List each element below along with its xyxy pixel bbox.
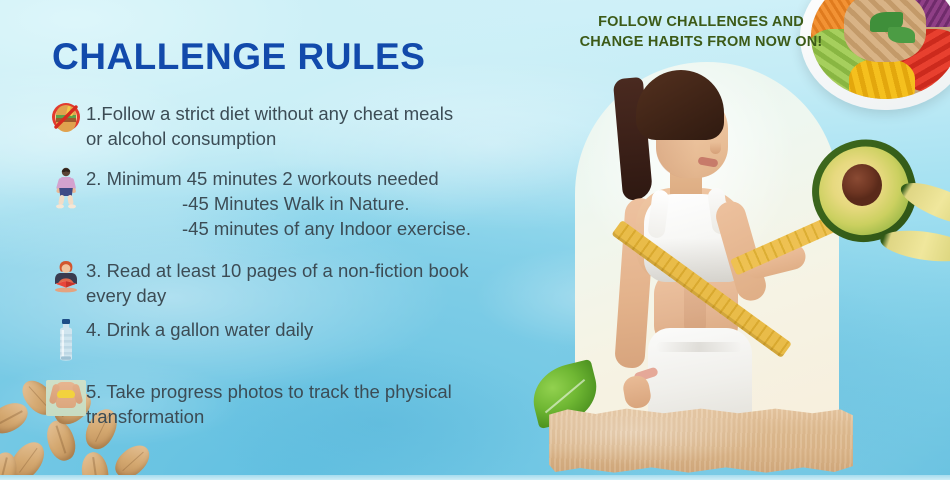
- rule-item-5: 5. Take progress photos to track the phy…: [46, 378, 546, 429]
- call-to-action-banner: [546, 408, 856, 474]
- avocado-pit: [842, 164, 882, 206]
- rule-2-subitem-2: -45 minutes of any Indoor exercise.: [86, 216, 471, 241]
- avocado-slice-2: [878, 226, 950, 267]
- rule-item-1: 1.Follow a strict diet without any cheat…: [46, 100, 546, 151]
- rule-1-line-1: 1.Follow a strict diet without any cheat…: [86, 103, 453, 124]
- banner-line-1: FOLLOW CHALLENGES AND: [546, 12, 856, 32]
- woman-measuring-waist-image: [598, 70, 828, 420]
- herb-leaf-2: [888, 27, 915, 43]
- rule-2-text: 2. Minimum 45 minutes 2 workouts needed …: [86, 165, 471, 241]
- paper-grain: [546, 408, 856, 474]
- water-bottle-icon: [46, 316, 86, 362]
- rule-1-line-2: or alcohol consumption: [86, 128, 276, 149]
- banner-line-2: CHANGE HABITS FROM NOW ON!: [546, 32, 856, 52]
- almond: [110, 439, 156, 480]
- hair: [636, 70, 724, 140]
- rule-1-text: 1.Follow a strict diet without any cheat…: [86, 100, 453, 151]
- rule-4-line-1: 4. Drink a gallon water daily: [86, 319, 313, 340]
- challenge-rules-poster: CHALLENGE RULES 1.Follow a strict di: [0, 0, 950, 480]
- shorts-fold: [656, 342, 742, 352]
- rule-3-line-1: 3. Read at least 10 pages of a non-ficti…: [86, 260, 469, 281]
- progress-photo-thumbnail: [46, 380, 86, 416]
- rule-item-3: 3. Read at least 10 pages of a non-ficti…: [46, 257, 546, 308]
- yellow-bikini: [57, 390, 75, 398]
- rules-list: 1.Follow a strict diet without any cheat…: [46, 100, 546, 429]
- nose: [710, 142, 721, 154]
- no-junk-food-icon: [46, 100, 86, 132]
- rule-item-2: 2. Minimum 45 minutes 2 workouts needed …: [46, 165, 546, 241]
- rule-5-line-2: transformation: [86, 406, 204, 427]
- rule-3-text: 3. Read at least 10 pages of a non-ficti…: [86, 257, 469, 308]
- rule-2-subitem-1: -45 Minutes Walk in Nature.: [86, 191, 471, 216]
- rule-2-line-1: 2. Minimum 45 minutes 2 workouts needed: [86, 168, 439, 189]
- rule-5-line-1: 5. Take progress photos to track the phy…: [86, 381, 452, 402]
- person-reading-book-icon: [46, 257, 86, 293]
- rule-item-4: 4. Drink a gallon water daily: [46, 316, 546, 362]
- leaf-vein: [545, 379, 586, 414]
- progress-photo-icon: [46, 378, 86, 416]
- walking-person-icon: [46, 165, 86, 209]
- rule-4-text: 4. Drink a gallon water daily: [86, 316, 313, 342]
- yellow-pepper: [849, 59, 914, 99]
- bottom-edge-strip: [0, 475, 950, 480]
- rule-3-line-2: every day: [86, 285, 166, 306]
- page-title: CHALLENGE RULES: [52, 36, 425, 78]
- rule-5-text: 5. Take progress photos to track the phy…: [86, 378, 452, 429]
- banner-text: FOLLOW CHALLENGES AND CHANGE HABITS FROM…: [546, 12, 856, 52]
